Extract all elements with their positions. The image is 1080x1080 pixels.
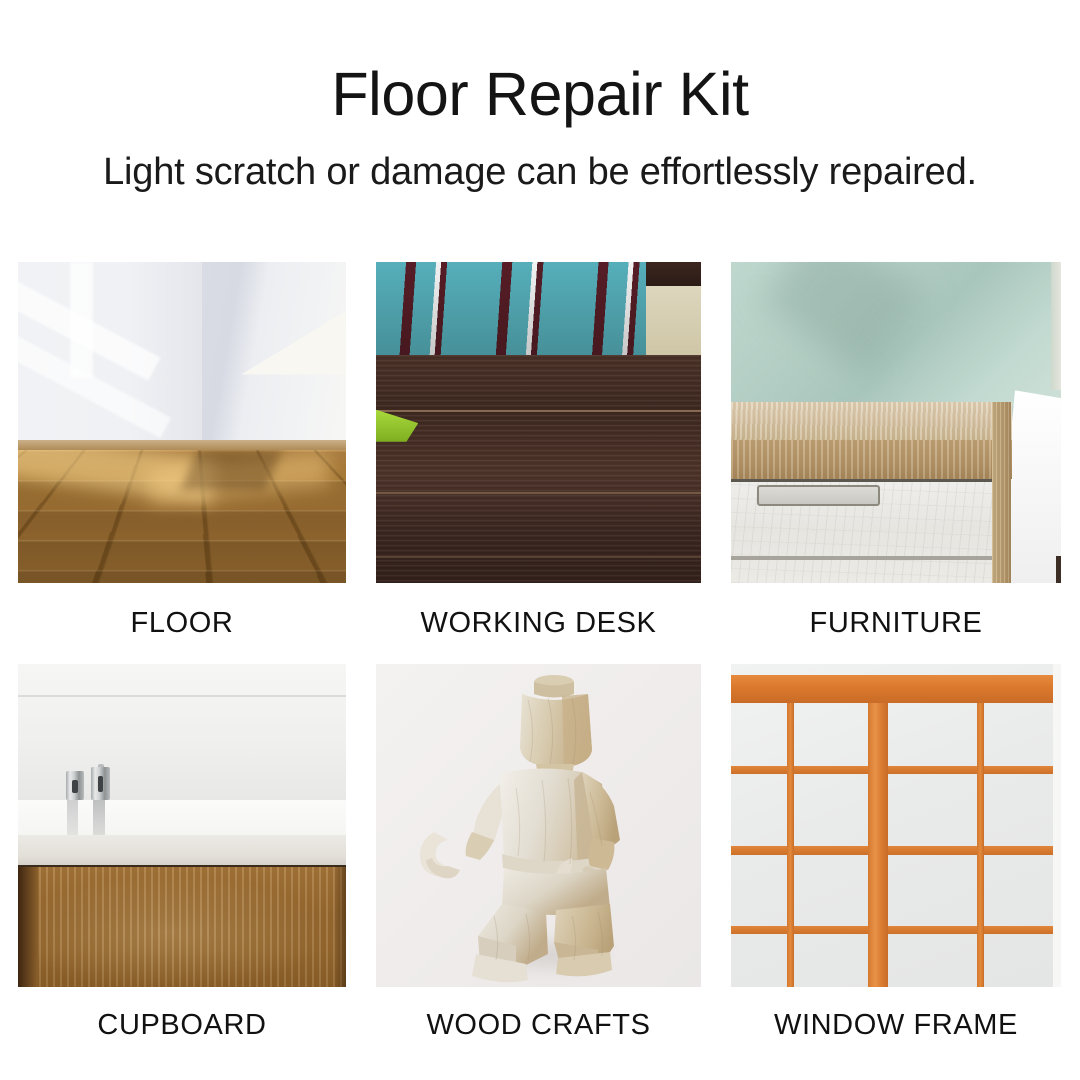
caption-cupboard: CUPBOARD	[18, 987, 346, 1040]
working-desk-image	[376, 262, 701, 583]
cupboard-grinder-right	[91, 767, 109, 800]
window-muntin-horizontal-3	[731, 926, 1061, 934]
gallery-item-window-frame[interactable]: WINDOW FRAME	[731, 664, 1061, 1040]
gallery-item-furniture[interactable]: FURNITURE	[731, 262, 1061, 664]
cupboard-grinder-knob	[98, 764, 104, 766]
cupboard-cabinet-door	[18, 867, 346, 987]
cupboard-grinder-window-left	[72, 780, 78, 793]
furniture-drawer-fronts	[731, 479, 992, 583]
product-infographic-page: Floor Repair Kit Light scratch or damage…	[0, 0, 1080, 1080]
furniture-bed-shadow	[1056, 556, 1061, 583]
application-gallery-grid: FLOOR WORKING DESK	[18, 262, 1062, 1040]
cupboard-image	[18, 664, 346, 987]
gallery-item-wood-crafts[interactable]: WOOD CRAFTS	[376, 664, 701, 1040]
caption-furniture: FURNITURE	[731, 583, 1061, 664]
desk-fabric-shading	[376, 262, 646, 355]
wooden-minifigure-icon	[376, 664, 701, 987]
window-muntin-horizontal-2	[731, 846, 1061, 854]
desk-plank-seam-2	[376, 492, 701, 494]
caption-window-frame: WINDOW FRAME	[731, 987, 1061, 1040]
floor-image	[18, 262, 346, 583]
furniture-image	[731, 262, 1061, 583]
furniture-cabinet-apron	[731, 440, 1012, 479]
window-top-rail	[731, 675, 1061, 702]
gallery-item-working-desk[interactable]: WORKING DESK	[376, 262, 701, 664]
window-frame-image	[731, 664, 1061, 987]
cupboard-cabinet-left-shadow	[18, 867, 38, 987]
window-muntin-vertical-1	[787, 700, 794, 987]
cupboard-cabinet-right-shadow	[333, 867, 346, 987]
page-subtitle: Light scratch or damage can be effortles…	[0, 152, 1080, 194]
caption-wood-crafts: WOOD CRAFTS	[376, 987, 701, 1040]
desk-striped-fabric	[376, 262, 646, 355]
furniture-wall-shadow	[760, 262, 926, 377]
floor-shadow	[180, 450, 281, 490]
furniture-drawer-handle[interactable]	[757, 485, 880, 506]
desk-plank-seam-3	[376, 556, 701, 558]
window-center-mullion	[868, 675, 888, 987]
furniture-drawer-divider	[731, 556, 992, 560]
page-title: Floor Repair Kit	[0, 62, 1080, 128]
floor-wall	[18, 262, 346, 450]
cupboard-wall-seam	[18, 695, 346, 697]
window-glass	[731, 664, 1061, 987]
header: Floor Repair Kit Light scratch or damage…	[0, 0, 1080, 194]
furniture-wall-edge	[1051, 262, 1061, 390]
wood-crafts-image	[376, 664, 701, 987]
cupboard-cabinet-grain	[18, 867, 346, 987]
furniture-bedding	[1005, 390, 1061, 583]
floor-wood-planks	[18, 450, 346, 583]
window-muntin-vertical-2	[977, 700, 984, 987]
desk-wood-grain	[376, 355, 701, 583]
furniture-cabinet-side-panel	[992, 402, 1012, 583]
caption-floor: FLOOR	[18, 583, 346, 664]
gallery-item-cupboard[interactable]: CUPBOARD	[18, 664, 346, 1040]
caption-working-desk: WORKING DESK	[376, 583, 701, 664]
cupboard-counter-edge	[18, 835, 346, 866]
furniture-cabinet-top	[731, 402, 1012, 442]
desk-plank-seam-1	[376, 410, 701, 412]
furniture-wall	[731, 262, 1061, 406]
window-right-edge	[1053, 664, 1061, 987]
gallery-item-floor[interactable]: FLOOR	[18, 262, 346, 664]
furniture-drawer-top-gap	[731, 479, 992, 482]
cupboard-grinder-left	[66, 771, 84, 799]
desk-wood-surface	[376, 355, 701, 583]
window-muntin-horizontal-1	[731, 766, 1061, 774]
cupboard-grinder-window-right	[98, 776, 104, 791]
cupboard-wall	[18, 664, 346, 800]
floor-sunlight-patch	[241, 311, 346, 375]
